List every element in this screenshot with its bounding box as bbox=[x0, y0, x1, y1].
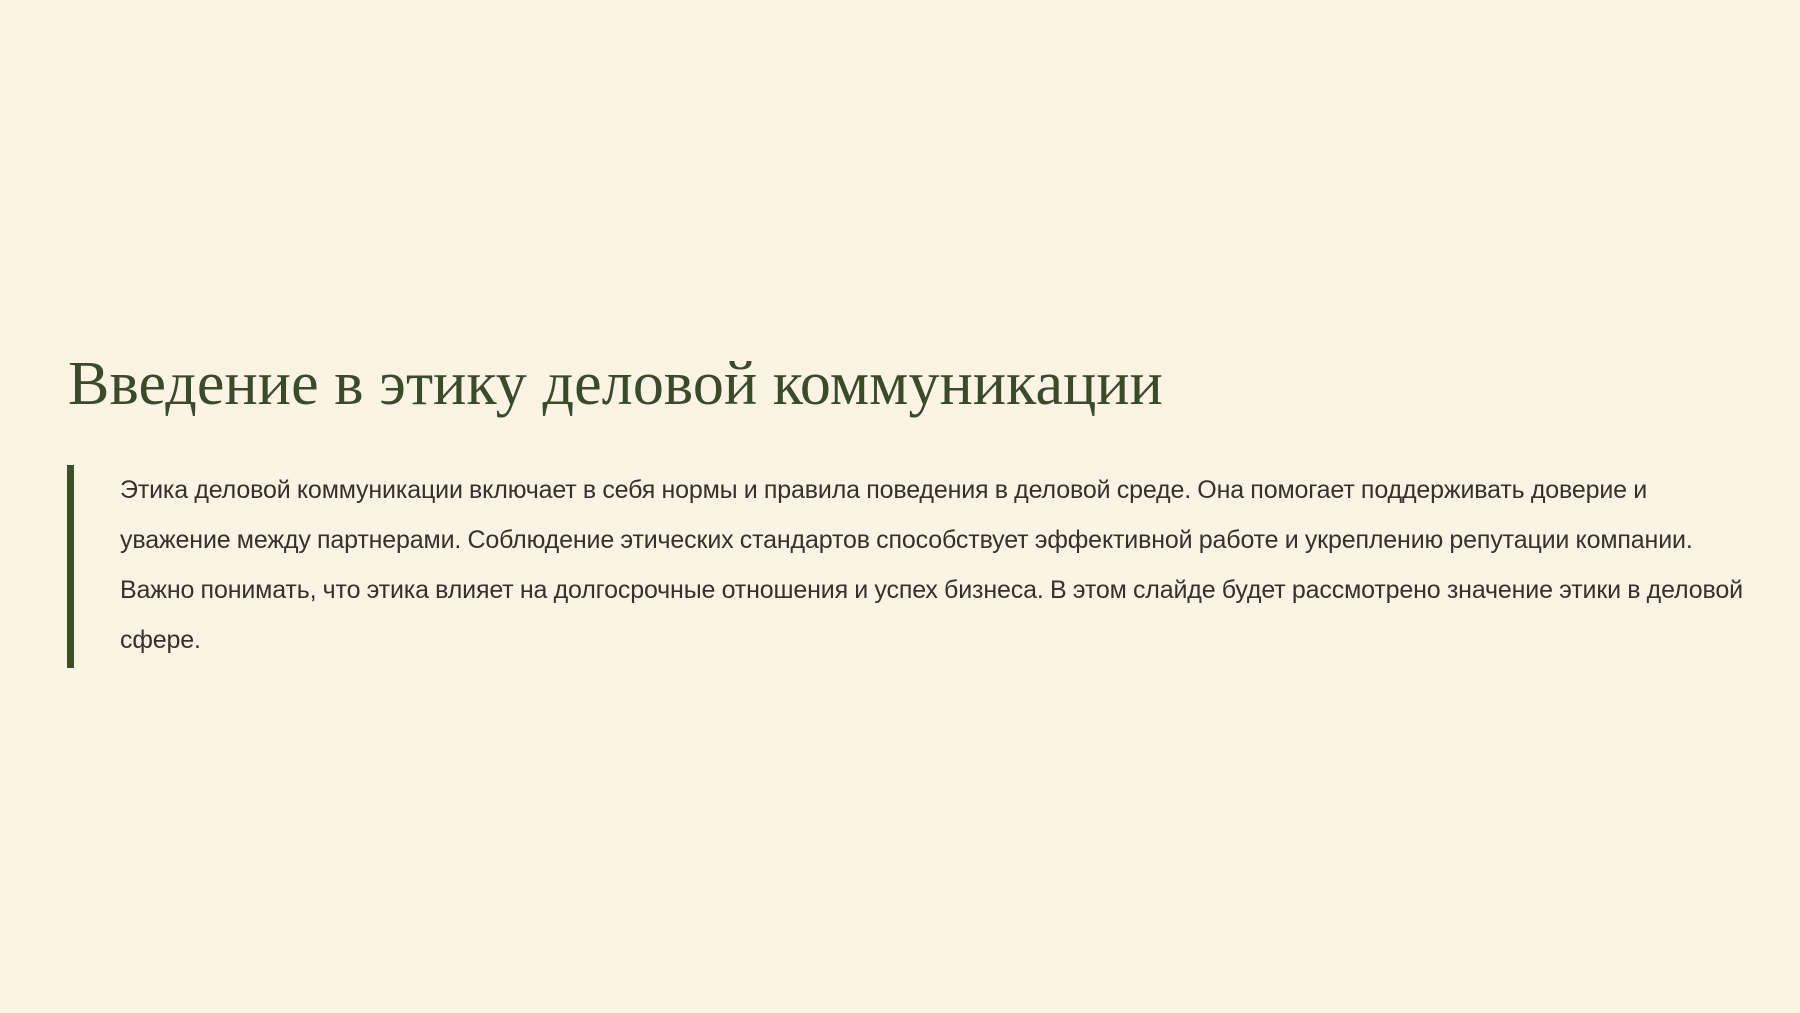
slide-body-paragraph: Этика деловой коммуникации включает в се… bbox=[120, 465, 1747, 665]
slide-title: Введение в этику деловой коммуникации bbox=[68, 347, 1688, 421]
body-text-container: Этика деловой коммуникации включает в се… bbox=[74, 465, 1747, 668]
left-accent-bar bbox=[67, 465, 74, 668]
presentation-slide: Введение в этику деловой коммуникации Эт… bbox=[0, 0, 1800, 1013]
body-text-block: Этика деловой коммуникации включает в се… bbox=[67, 465, 1747, 668]
slide-content-area: Введение в этику деловой коммуникации Эт… bbox=[0, 0, 1800, 1013]
